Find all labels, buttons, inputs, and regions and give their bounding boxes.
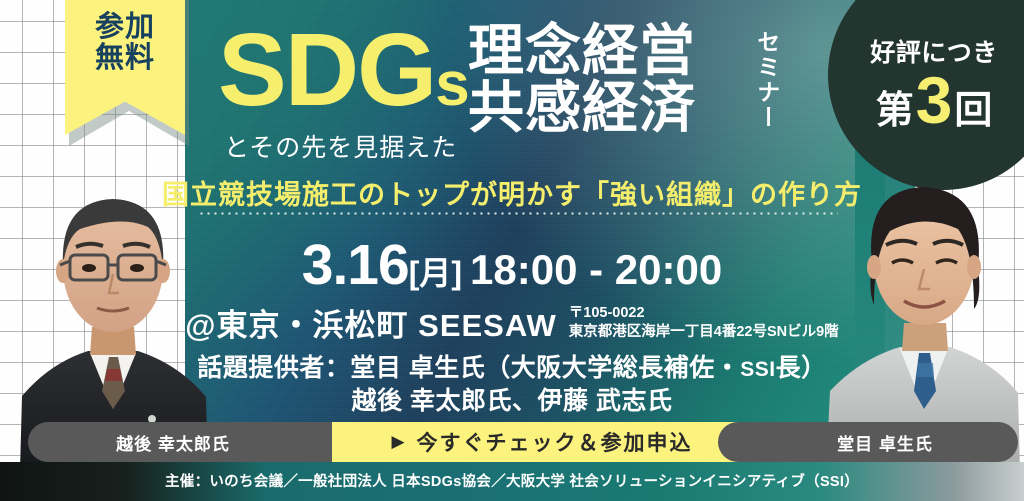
- venue-address-line: 東京都港区海岸一丁目4番22号SNビル9階: [569, 324, 839, 340]
- headline-right-line2: 共感経済: [468, 79, 696, 136]
- sdgs-logotype: SDGs: [218, 18, 470, 121]
- name-pill-right: 堂目 卓生氏: [718, 422, 1018, 462]
- speakers-line1-ssi: SSI: [740, 358, 775, 381]
- dotted-divider: [198, 212, 838, 215]
- play-triangle-icon: ▶: [391, 432, 406, 452]
- seminar-poster: 参加 無料 好評につき 第 3 回 SDGs とその先を見据えた 理念経営 共感…: [0, 0, 1024, 501]
- register-cta-label: 今すぐチェック＆参加申込: [417, 427, 693, 457]
- headline-right: 理念経営 共感経済: [468, 22, 696, 136]
- bottom-action-bar: 越後 幸太郎氏 ▶ 今すぐチェック＆参加申込 堂目 卓生氏: [0, 422, 1024, 462]
- speakers-line1-prefix: 話題提供者：堂目 卓生氏（大阪大学総長補佐・: [197, 354, 740, 382]
- ribbon-line1: 参加: [95, 12, 155, 43]
- register-cta-button[interactable]: ▶ 今すぐチェック＆参加申込: [332, 422, 752, 462]
- headline-right-line1: 理念経営: [468, 22, 696, 79]
- event-venue: @東京・浜松町 SEESAW 〒105-0022 東京都港区海岸一丁目4番22号…: [0, 300, 1024, 345]
- badge-bottom-text: 第 3 回: [876, 71, 993, 134]
- event-datetime: 3.16[月]18:00 - 20:00: [0, 232, 1024, 298]
- badge-prefix: 第: [876, 79, 914, 134]
- venue-address: 〒105-0022 東京都港区海岸一丁目4番22号SNビル9階: [569, 304, 839, 341]
- name-pill-left: 越後 幸太郎氏: [28, 422, 358, 462]
- organizer-footer: 主催：いのち会議／一般社団法人 日本SDGs協会／大阪大学 社会ソリューションイ…: [0, 470, 1024, 491]
- headline-sdgs-subline: とその先を見据えた: [224, 128, 457, 164]
- speakers-line1: 話題提供者：堂目 卓生氏（大阪大学総長補佐・SSI長）: [0, 352, 1024, 385]
- badge-number: 3: [916, 71, 953, 130]
- speakers-line1-suffix: 長）: [776, 354, 827, 382]
- sdgs-main: SDG: [218, 12, 435, 127]
- speakers-line2: 越後 幸太郎氏、伊藤 武志氏: [0, 385, 1024, 418]
- event-weekday: [月]: [409, 255, 462, 291]
- sdgs-tail: s: [435, 50, 469, 119]
- speakers-block: 話題提供者：堂目 卓生氏（大阪大学総長補佐・SSI長） 越後 幸太郎氏、伊藤 武…: [0, 352, 1024, 418]
- venue-name: @東京・浜松町 SEESAW: [185, 300, 556, 345]
- headline-block: SDGs とその先を見据えた 理念経営 共感経済 セミナー: [190, 8, 870, 168]
- event-date: 3.16: [302, 233, 409, 297]
- badge-suffix: 回: [954, 79, 992, 134]
- event-time: 18:00 - 20:00: [470, 246, 722, 293]
- headline-seminar-vertical: セミナー: [752, 30, 781, 150]
- ribbon-line2: 無料: [95, 43, 155, 74]
- page-subtitle: 国立競技場施工のトップが明かす「強い組織」の作り方: [0, 173, 1024, 212]
- venue-postal: 〒105-0022: [569, 305, 645, 321]
